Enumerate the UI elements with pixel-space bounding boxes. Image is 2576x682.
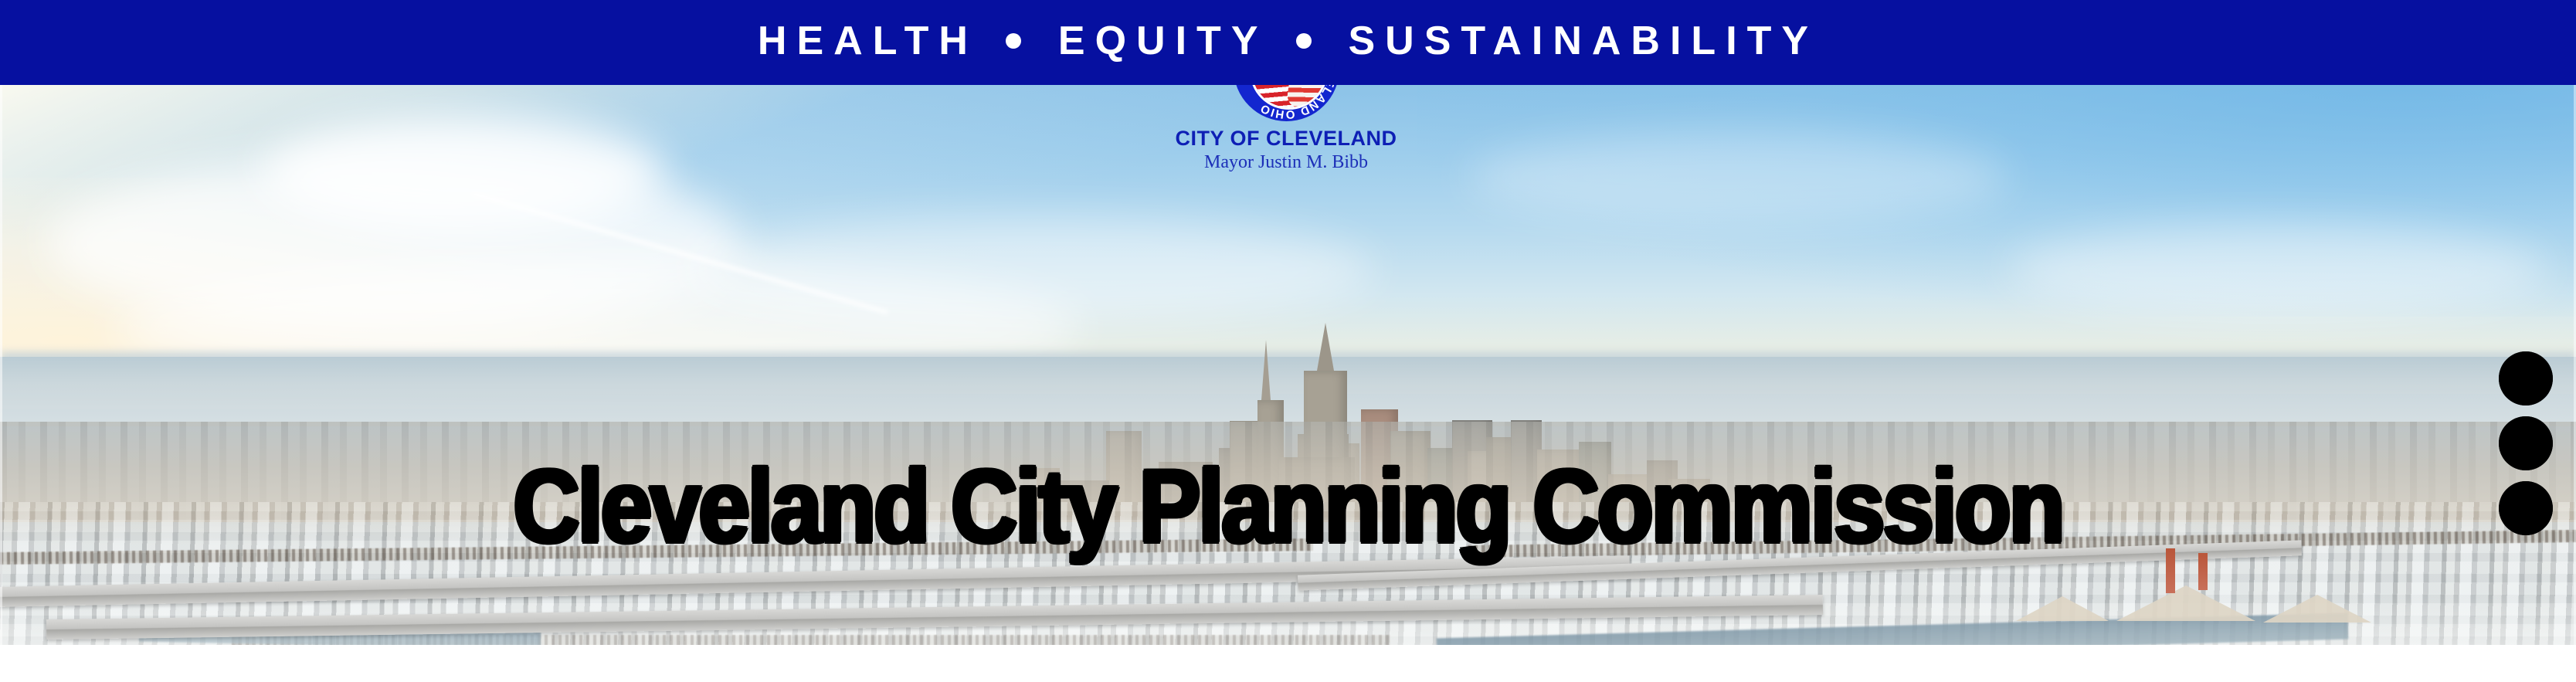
organization-name: CITY OF CLEVELAND xyxy=(1174,127,1398,149)
page-title: Cleveland City Planning Commission xyxy=(0,454,2576,558)
instagram-glyph xyxy=(2499,416,2553,470)
tagline-word-equity: EQUITY xyxy=(1058,21,1268,61)
youtube-icon[interactable] xyxy=(2499,351,2553,405)
social-links-rail xyxy=(2499,351,2553,535)
facebook-icon[interactable] xyxy=(2499,481,2553,535)
tagline-separator-dot-2 xyxy=(1296,33,1312,49)
key-tower-spire xyxy=(1317,323,1334,371)
gravel-pile xyxy=(2016,596,2109,621)
page-root: HEALTH EQUITY SUSTAINABILITY xyxy=(0,0,2576,682)
instagram-icon[interactable] xyxy=(2499,416,2553,470)
tagline-banner: HEALTH EQUITY SUSTAINABILITY xyxy=(0,0,2576,85)
gravel-pile xyxy=(2116,585,2255,621)
tagline-separator-dot-1 xyxy=(1006,33,1021,49)
page-bottom-margin xyxy=(0,645,2576,682)
youtube-glyph xyxy=(2499,351,2553,405)
photo-edge-left xyxy=(0,85,2,645)
facebook-glyph xyxy=(2499,481,2553,535)
tagline-word-health: HEALTH xyxy=(758,21,978,61)
mayor-name: Mayor Justin M. Bibb xyxy=(1174,153,1398,172)
tagline-word-sustainability: SUSTAINABILITY xyxy=(1349,21,1819,61)
industrial-stack xyxy=(2198,553,2208,590)
tagline-banner-inner: HEALTH EQUITY SUSTAINABILITY xyxy=(758,21,1818,61)
terminal-tower-spire xyxy=(1261,340,1271,400)
gravel-pile xyxy=(2263,595,2371,623)
